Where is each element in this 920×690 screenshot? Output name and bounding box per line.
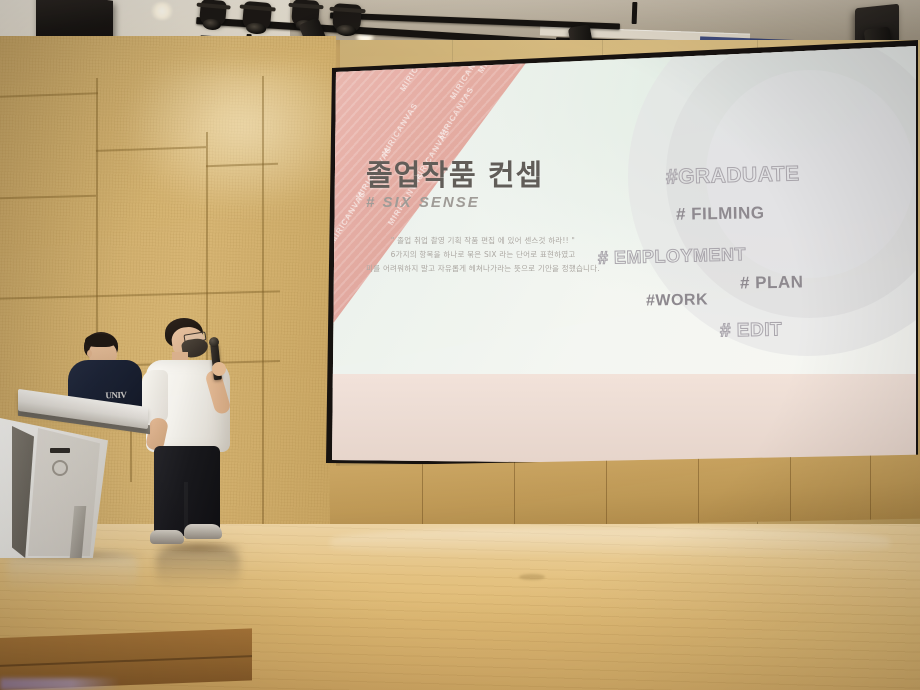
floor-color-accent [0,678,120,690]
truss-dropper [632,2,638,24]
screen-baseboard [330,455,920,530]
floor-marking [519,574,545,580]
hashtag-filming: # FILMING [676,203,765,225]
sneaker-right [184,524,222,539]
hand [212,362,226,376]
hashtag-plan: # PLAN [740,272,804,293]
hashtag-work: #WORK [646,291,708,310]
presentation-slide: MIRICANVAS MIRICANVAS MIRICANVAS MIRICAN… [328,42,916,388]
slide-body-line: 6가지의 항목을 하나로 묶은 SIX 라는 단어로 표현하였고 [358,248,608,262]
hashtag-employment: # EMPLOYMENT [598,244,747,269]
floor-reflection [330,528,890,558]
recessed-light-icon [149,2,175,20]
slide-body-text: " 졸업 취업 촬영 기획 작품 편집 에 있어 센스것 하라!! " 6가지의… [358,234,608,276]
auditorium-presentation-scene: MIRICANVAS MIRICANVAS MIRICANVAS MIRICAN… [0,0,920,690]
screen-blank-band [328,374,916,466]
stage-light [242,1,272,31]
stage-light [332,3,362,33]
stage-light [199,0,227,27]
hashtag-graduate: #GRADUATE [666,162,800,189]
slide-body-line: " 졸업 취업 촬영 기획 작품 편집 에 있어 센스것 하라!! " [358,234,608,248]
person-presenter [150,318,256,550]
hashtag-edit: # EDIT [720,319,782,342]
podium-logo-icon [52,460,68,476]
sneaker-left [150,530,184,544]
podium-control-panel[interactable] [50,448,70,453]
slide-body-line: 미를 어려워하지 말고 자유롭게 헤쳐나가라는 뜻으로 기안을 정했습니다. [358,262,608,276]
podium-lectern [0,396,144,561]
projection-screen[interactable]: MIRICANVAS MIRICANVAS MIRICANVAS MIRICAN… [328,42,916,466]
ear [87,350,92,357]
slide-title: 졸업작품 컨셉 [366,152,543,194]
hair-fringe [85,334,115,347]
slide-subtitle: # SIX SENSE [366,194,480,211]
black-trousers [154,446,220,536]
